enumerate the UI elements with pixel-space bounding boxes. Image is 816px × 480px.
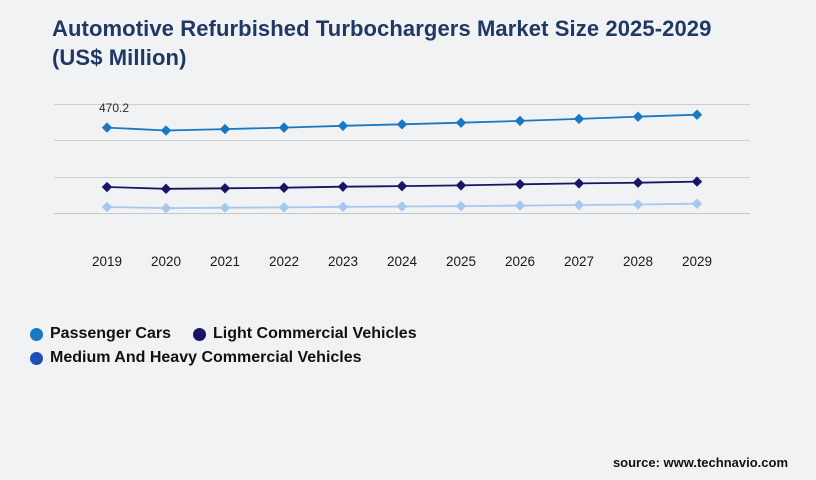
legend-marker-icon: [30, 352, 43, 365]
legend-row: Passenger Cars Light Commercial Vehicles: [30, 322, 630, 346]
data-point-marker[interactable]: [515, 179, 525, 189]
data-point-marker[interactable]: [279, 183, 289, 193]
legend-item-passenger-cars[interactable]: Passenger Cars: [30, 325, 171, 343]
legend-label: Medium And Heavy Commercial Vehicles: [50, 349, 362, 367]
data-point-marker[interactable]: [102, 202, 112, 212]
x-axis-tick-label: 2020: [151, 254, 181, 269]
data-point-marker[interactable]: [574, 178, 584, 188]
data-point-marker[interactable]: [692, 176, 702, 186]
data-point-marker[interactable]: [220, 124, 230, 134]
data-point-marker[interactable]: [692, 199, 702, 209]
data-point-marker[interactable]: [633, 112, 643, 122]
x-axis-tick-label: 2026: [505, 254, 535, 269]
data-point-marker[interactable]: [161, 125, 171, 135]
data-point-marker[interactable]: [338, 121, 348, 131]
legend-label: Passenger Cars: [50, 325, 171, 343]
x-axis-tick-label: 2022: [269, 254, 299, 269]
x-axis-tick-label: 2024: [387, 254, 417, 269]
data-point-marker[interactable]: [102, 122, 112, 132]
chart-legend: Passenger Cars Light Commercial Vehicles…: [30, 322, 630, 370]
data-point-marker[interactable]: [279, 202, 289, 212]
data-point-marker[interactable]: [515, 116, 525, 126]
legend-row: Medium And Heavy Commercial Vehicles: [30, 346, 630, 370]
data-point-marker[interactable]: [456, 201, 466, 211]
data-point-marker[interactable]: [633, 199, 643, 209]
data-point-marker[interactable]: [102, 182, 112, 192]
data-point-marker[interactable]: [397, 181, 407, 191]
data-point-marker[interactable]: [456, 118, 466, 128]
x-axis-tick-label: 2027: [564, 254, 594, 269]
data-point-marker[interactable]: [161, 203, 171, 213]
data-point-marker[interactable]: [456, 180, 466, 190]
data-point-marker[interactable]: [338, 202, 348, 212]
chart-title: Automotive Refurbished Turbochargers Mar…: [52, 14, 732, 72]
plot-area: 470.2: [54, 96, 750, 222]
source-attribution: source: www.technavio.com: [613, 455, 788, 470]
x-axis-tick-label: 2029: [682, 254, 712, 269]
legend-label: Light Commercial Vehicles: [213, 325, 417, 343]
data-point-marker[interactable]: [220, 203, 230, 213]
data-point-marker[interactable]: [397, 201, 407, 211]
data-point-marker[interactable]: [338, 181, 348, 191]
x-axis-tick-labels: 2019202020212022202320242025202620272028…: [54, 254, 750, 274]
data-point-marker[interactable]: [161, 184, 171, 194]
data-point-marker[interactable]: [692, 110, 702, 120]
legend-item-medium-and-heavy-commercial-vehicles[interactable]: Medium And Heavy Commercial Vehicles: [30, 349, 362, 367]
x-axis-tick-label: 2025: [446, 254, 476, 269]
legend-item-light-commercial-vehicles[interactable]: Light Commercial Vehicles: [193, 325, 417, 343]
data-point-marker[interactable]: [574, 200, 584, 210]
legend-marker-icon: [30, 328, 43, 341]
series-layer: [54, 96, 750, 222]
data-point-marker[interactable]: [574, 114, 584, 124]
data-point-marker[interactable]: [220, 183, 230, 193]
x-axis-tick-label: 2028: [623, 254, 653, 269]
data-point-marker[interactable]: [279, 122, 289, 132]
data-point-marker[interactable]: [515, 200, 525, 210]
legend-marker-icon: [193, 328, 206, 341]
data-point-marker[interactable]: [397, 119, 407, 129]
data-point-marker[interactable]: [633, 177, 643, 187]
x-axis-tick-label: 2019: [92, 254, 122, 269]
x-axis-tick-label: 2021: [210, 254, 240, 269]
x-axis-tick-label: 2023: [328, 254, 358, 269]
data-point-label: 470.2: [99, 101, 129, 115]
chart-container: Automotive Refurbished Turbochargers Mar…: [0, 0, 816, 480]
